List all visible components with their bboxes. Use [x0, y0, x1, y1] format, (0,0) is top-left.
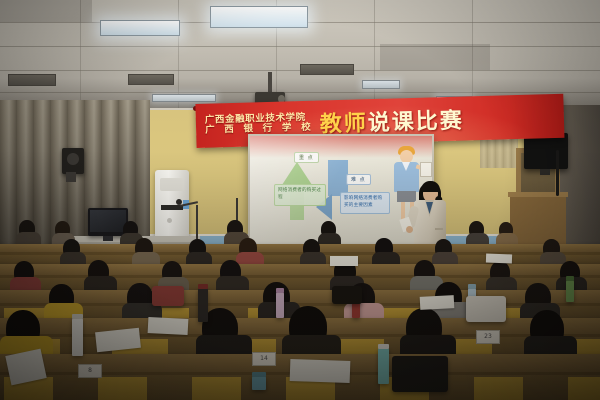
ceiling-tile: [380, 44, 490, 70]
desk-surface-row-0: [0, 244, 600, 252]
banner-char-5: 赛: [439, 103, 463, 136]
display-mount: [540, 169, 550, 175]
projector-mount-pole: [268, 72, 272, 94]
banner-char-2: 说: [367, 105, 391, 138]
banner-school-names: 广西金融职业技术学院 广 西 银 行 学 校: [205, 113, 314, 135]
desk-number-tag: 14: [252, 352, 276, 366]
desk-number-tag: 23: [476, 330, 500, 344]
monitor-screen: [90, 210, 126, 232]
display-cable: [556, 150, 559, 196]
speaker-bracket: [66, 172, 76, 182]
desk-panel: [98, 377, 147, 400]
ceiling-light-4: [152, 94, 216, 102]
ceiling-light-1: [210, 6, 308, 28]
ceiling-grid-line: [0, 46, 600, 47]
desk-surface-row-2: [0, 290, 600, 303]
notebook-paper: [330, 256, 358, 266]
thermos-white-cap: [72, 314, 83, 319]
thermos-teal-cap: [378, 344, 389, 349]
side-cabinet-top: [508, 192, 568, 197]
desk-panel: [474, 377, 523, 400]
banner-char-3: 课: [391, 104, 415, 137]
microphone-icon[interactable]: [176, 199, 182, 205]
ceiling-light-2: [8, 74, 56, 86]
presenter-hair-top: [421, 181, 440, 192]
cup-blue-cap: [252, 372, 266, 377]
desk-panel: [568, 377, 600, 400]
ceiling-light-0: [100, 20, 180, 36]
thermos-black: [198, 288, 208, 322]
ceiling-light-6: [362, 80, 400, 89]
notebook-paper: [420, 295, 455, 310]
air-conditioner-vent: [160, 178, 184, 191]
notebook-paper: [486, 254, 512, 264]
bottle-pink: [276, 292, 284, 318]
desk-panel: [192, 377, 241, 400]
ceiling-light-5: [300, 64, 354, 75]
banner-char-1: 师: [343, 105, 367, 138]
bottle-pink-cap: [276, 288, 284, 293]
projection-screen: 重 点 难 点 网络消费者的购买过程 影响网络消费者购买的主要因素: [250, 136, 432, 250]
thermos-white: [72, 318, 83, 356]
notebook-paper: [148, 317, 189, 335]
cup-blue: [252, 376, 266, 390]
bottle-green: [566, 280, 574, 302]
audience-bag: [332, 286, 362, 304]
air-conditioner-button[interactable]: [167, 218, 172, 223]
audience-bag: [152, 286, 184, 306]
notebook-paper: [290, 359, 351, 383]
presenter-pocket: [435, 228, 443, 230]
thermos-teal: [378, 348, 389, 384]
banner-char-4: 比: [415, 103, 439, 136]
speaker-cone-icon: [67, 153, 79, 165]
microphone-stand: [196, 205, 198, 239]
thermos-black-cap: [198, 284, 208, 289]
ceiling-light-3: [128, 74, 174, 85]
screen-glare: [250, 136, 432, 250]
ceiling-tile: [0, 0, 92, 22]
desk-number-tag: 8: [78, 364, 102, 378]
presenter-hand: [406, 226, 413, 233]
audience-bag: [466, 296, 506, 322]
bottle-clear-cap: [468, 284, 476, 289]
monitor-stand: [103, 236, 113, 241]
bottle-green-cap: [566, 276, 574, 281]
lecture-hall-photo: 广西金融职业技术学院 广 西 银 行 学 校 教师说课比赛 重 点 难 点 网络…: [0, 0, 600, 400]
audience-bag: [392, 356, 448, 392]
